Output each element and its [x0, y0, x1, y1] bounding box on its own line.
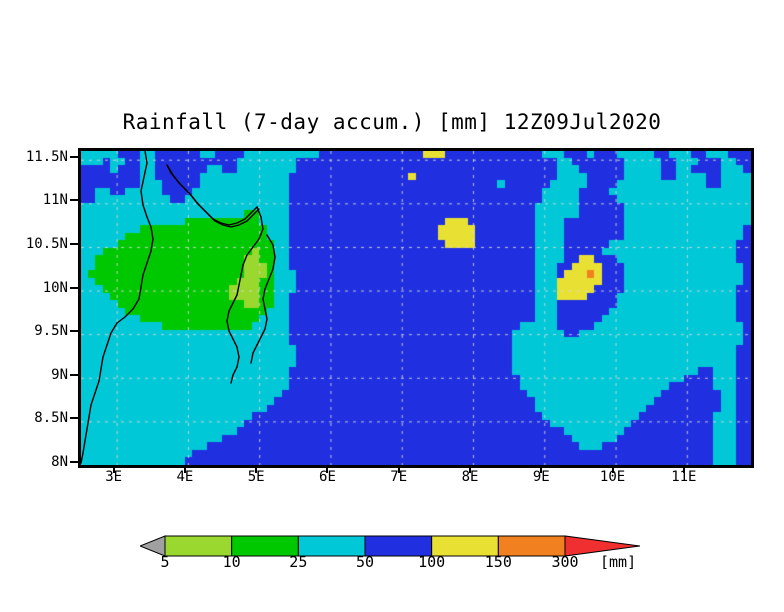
colorbar-tick-label: 300	[551, 553, 578, 571]
y-tick-label: 10.5N	[0, 236, 68, 252]
y-tick-mark	[70, 156, 78, 158]
y-tick-label: 9N	[0, 367, 68, 383]
x-tick-mark	[398, 465, 400, 473]
colorbar-tick-label: 10	[223, 553, 241, 571]
colorbar-tick-label: 50	[356, 553, 374, 571]
colorbar-tick-label: 150	[485, 553, 512, 571]
y-tick-label: 11N	[0, 192, 68, 208]
y-tick-mark	[70, 287, 78, 289]
y-tick-label: 9.5N	[0, 323, 68, 339]
colorbar-tick-label: 100	[418, 553, 445, 571]
y-tick-mark	[70, 374, 78, 376]
page-title: Rainfall (7-day accum.) [mm] 12Z09Jul202…	[0, 110, 784, 134]
map-plot-area[interactable]	[78, 148, 754, 468]
colorbar-unit-label: [mm]	[600, 553, 636, 571]
x-tick-mark	[683, 465, 685, 473]
x-tick-mark	[540, 465, 542, 473]
y-tick-mark	[70, 417, 78, 419]
x-tick-mark	[255, 465, 257, 473]
colorbar-tick-label: 25	[289, 553, 307, 571]
y-tick-mark	[70, 199, 78, 201]
x-tick-mark	[326, 465, 328, 473]
x-tick-mark	[612, 465, 614, 473]
y-tick-label: 10N	[0, 280, 68, 296]
y-axis: 11.5N11N10.5N10N9.5N9N8.5N8N	[0, 0, 76, 612]
y-tick-label: 8N	[0, 454, 68, 470]
x-tick-mark	[113, 465, 115, 473]
x-tick-mark	[469, 465, 471, 473]
y-tick-mark	[70, 330, 78, 332]
y-tick-label: 11.5N	[0, 149, 68, 165]
y-tick-mark	[70, 461, 78, 463]
x-tick-mark	[184, 465, 186, 473]
country-borders-overlay	[81, 151, 751, 465]
y-tick-label: 8.5N	[0, 410, 68, 426]
y-tick-mark	[70, 243, 78, 245]
rainfall-map-figure: Rainfall (7-day accum.) [mm] 12Z09Jul202…	[0, 0, 784, 612]
colorbar-tick-label: 5	[160, 553, 169, 571]
